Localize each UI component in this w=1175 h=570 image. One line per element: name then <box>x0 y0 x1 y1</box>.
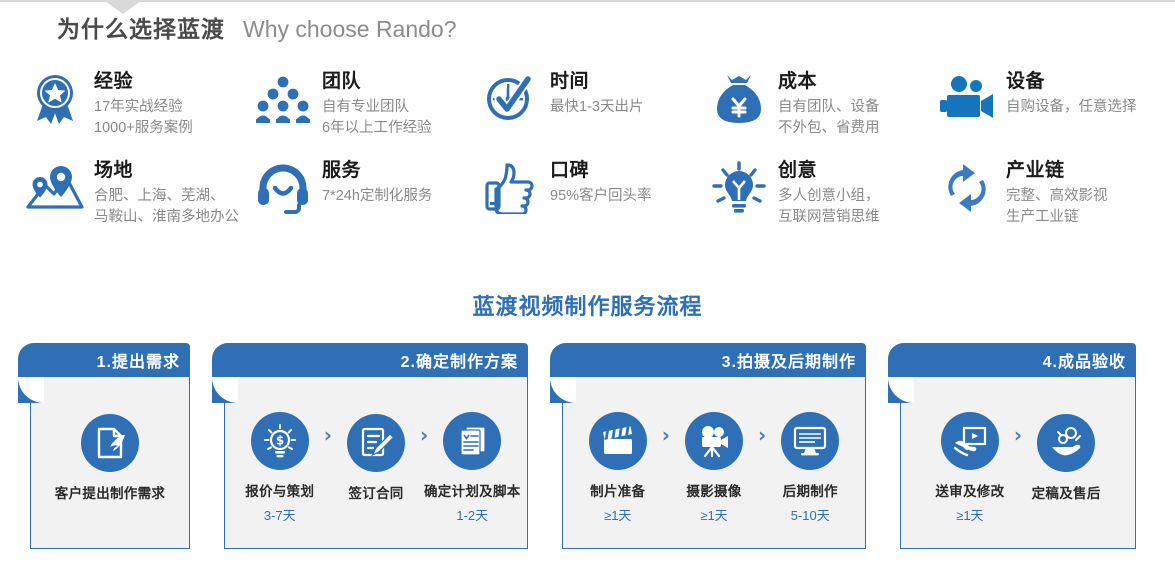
page-title: 为什么选择蓝渡 Why choose Rando? <box>57 10 457 44</box>
feature-desc: 7*24h定制化服务 <box>322 186 432 207</box>
bulb-dollar-icon: $ <box>251 412 309 470</box>
feature-desc: 自有专业团队 6年以上工作经验 <box>322 97 432 139</box>
feature-title: 成本 <box>778 70 880 94</box>
process-step[interactable]: 送审及修改 ≥1天 <box>922 412 1018 524</box>
monitor-edit-icon <box>781 412 839 470</box>
contract-sign-icon <box>347 414 405 472</box>
page-title-cn: 为什么选择蓝渡 <box>57 10 225 44</box>
process-step[interactable]: 摄影摄像 ≥1天 <box>666 412 762 524</box>
process-card-header-label: 2.确定制作方案 <box>401 348 518 372</box>
process-section-title: 蓝渡视频制作服务流程 <box>0 289 1175 321</box>
document-pen-icon <box>81 414 139 472</box>
card-corner-notch <box>550 377 576 403</box>
process-card-body: 客户提出制作需求 <box>30 377 190 549</box>
process-step-label: 报价与策划 <box>245 480 314 500</box>
process-step-label: 客户提出制作需求 <box>55 482 165 502</box>
clapperboard-icon <box>589 412 647 470</box>
card-corner-notch <box>888 377 914 403</box>
process-card-1: 1.提出需求 客户提出制作需求 <box>18 343 190 549</box>
lightbulb-icon <box>708 157 770 219</box>
feature-desc: 自购设备，任意选择 <box>1006 97 1137 118</box>
process-step-days: ≥1天 <box>956 505 983 524</box>
process-step[interactable]: 定稿及售后 <box>1018 414 1114 522</box>
medal-icon <box>24 68 86 130</box>
process-step[interactable]: 制片准备 ≥1天 <box>570 412 666 524</box>
process-card-body: $ 报价与策划 3-7天 › <box>224 377 528 549</box>
process-card-2: 2.确定制作方案 <box>212 343 528 549</box>
feature-desc: 多人创意小组， 互联网营销思维 <box>778 186 880 228</box>
process-card-header: 4.成品验收 <box>888 343 1136 377</box>
feature-title: 产业链 <box>1006 159 1108 183</box>
process-step[interactable]: 后期制作 5-10天 <box>762 412 858 524</box>
video-camera-icon <box>936 68 998 130</box>
process-steps: 制片准备 ≥1天 › <box>563 377 865 548</box>
process-step[interactable]: 签订合同 <box>328 414 424 522</box>
process-card-3: 3.拍摄及后期制作 <box>550 343 866 549</box>
feature-item-service: 服务 7*24h定制化服务 <box>252 157 480 228</box>
page-root: 为什么选择蓝渡 Why choose Rando? 经验 17年实战经验 100… <box>0 0 1175 570</box>
feature-item-creativity: 创意 多人创意小组， 互联网营销思维 <box>708 157 936 228</box>
process-card-header: 3.拍摄及后期制作 <box>550 343 866 377</box>
process-step[interactable]: $ 报价与策划 3-7天 <box>232 412 328 524</box>
process-step[interactable]: 客户提出制作需求 <box>62 414 158 522</box>
feature-desc: 17年实战经验 1000+服务案例 <box>94 97 193 139</box>
feature-title: 经验 <box>94 70 193 94</box>
feature-title: 口碑 <box>550 159 652 183</box>
hand-coins-icon <box>1037 414 1095 472</box>
team-icon <box>252 68 314 130</box>
card-corner-notch <box>212 377 238 403</box>
process-step-label: 签订合同 <box>348 482 403 502</box>
feature-title: 设备 <box>1006 70 1137 94</box>
money-bag-icon <box>708 68 770 130</box>
process-step-label: 摄影摄像 <box>686 480 741 500</box>
feature-item-time: 时间 最快1-3天出片 <box>480 68 708 139</box>
script-docs-icon <box>443 412 501 470</box>
feature-title: 时间 <box>550 70 643 94</box>
process-step-days: ≥1天 <box>700 505 727 524</box>
top-divider <box>0 0 1175 2</box>
process-card-header: 1.提出需求 <box>18 343 190 377</box>
feature-item-equipment: 设备 自购设备，任意选择 <box>936 68 1164 139</box>
process-step-label: 定稿及售后 <box>1032 482 1101 502</box>
process-step[interactable]: 确定计划及脚本 1-2天 <box>424 412 520 524</box>
thumbs-up-icon <box>480 157 542 219</box>
process-card-header: 2.确定制作方案 <box>212 343 528 377</box>
feature-title: 场地 <box>94 159 239 183</box>
svg-text:$: $ <box>276 433 284 447</box>
movie-camera-icon <box>685 412 743 470</box>
process-step-label: 送审及修改 <box>935 480 1004 500</box>
process-steps: 客户提出制作需求 <box>31 377 189 548</box>
process-card-4: 4.成品验收 <box>888 343 1136 549</box>
process-step-label: 后期制作 <box>783 480 838 500</box>
process-step-days: 1-2天 <box>456 505 488 524</box>
process-steps: 送审及修改 ≥1天 › <box>901 377 1135 548</box>
process-card-header-label: 4.成品验收 <box>1043 348 1126 372</box>
process-step-days: 5-10天 <box>791 505 830 524</box>
feature-item-cost: 成本 自有团队、设备 不外包、省费用 <box>708 68 936 139</box>
recycle-arrows-icon <box>936 157 998 219</box>
feature-item-industry-chain: 产业链 完整、高效影视 生产工业链 <box>936 157 1164 228</box>
process-step-label: 确定计划及脚本 <box>424 480 521 500</box>
feature-item-team: 团队 自有专业团队 6年以上工作经验 <box>252 68 480 139</box>
feature-desc: 最快1-3天出片 <box>550 97 643 118</box>
feature-desc: 95%客户回头率 <box>550 186 652 207</box>
feature-title: 团队 <box>322 70 432 94</box>
map-pin-icon <box>24 157 86 219</box>
card-corner-notch <box>18 377 44 403</box>
feature-title: 创意 <box>778 159 880 183</box>
process-card-header-label: 1.提出需求 <box>97 348 180 372</box>
feature-item-location: 场地 合肥、上海、芜湖、 马鞍山、淮南多地办公 <box>24 157 252 228</box>
process-step-days: ≥1天 <box>604 505 631 524</box>
process-card-header-label: 3.拍摄及后期制作 <box>722 348 856 372</box>
feature-desc: 完整、高效影视 生产工业链 <box>1006 186 1108 228</box>
page-title-en: Why choose Rando? <box>243 16 457 43</box>
process-cards-row: 1.提出需求 客户提出制作需求 <box>18 343 1158 549</box>
process-card-body: 送审及修改 ≥1天 › <box>900 377 1136 549</box>
feature-item-reputation: 口碑 95%客户回头率 <box>480 157 708 228</box>
feature-item-experience: 经验 17年实战经验 1000+服务案例 <box>24 68 252 139</box>
feature-title: 服务 <box>322 159 432 183</box>
headset-icon <box>252 157 314 219</box>
handshake-screen-icon <box>941 412 999 470</box>
clock-check-icon <box>480 68 542 130</box>
process-steps: $ 报价与策划 3-7天 › <box>225 377 527 548</box>
process-step-label: 制片准备 <box>590 480 645 500</box>
process-step-days: 3-7天 <box>264 505 296 524</box>
features-grid: 经验 17年实战经验 1000+服务案例 <box>24 68 1164 228</box>
feature-desc: 自有团队、设备 不外包、省费用 <box>778 97 880 139</box>
process-card-body: 制片准备 ≥1天 › <box>562 377 866 549</box>
feature-desc: 合肥、上海、芜湖、 马鞍山、淮南多地办公 <box>94 186 239 228</box>
